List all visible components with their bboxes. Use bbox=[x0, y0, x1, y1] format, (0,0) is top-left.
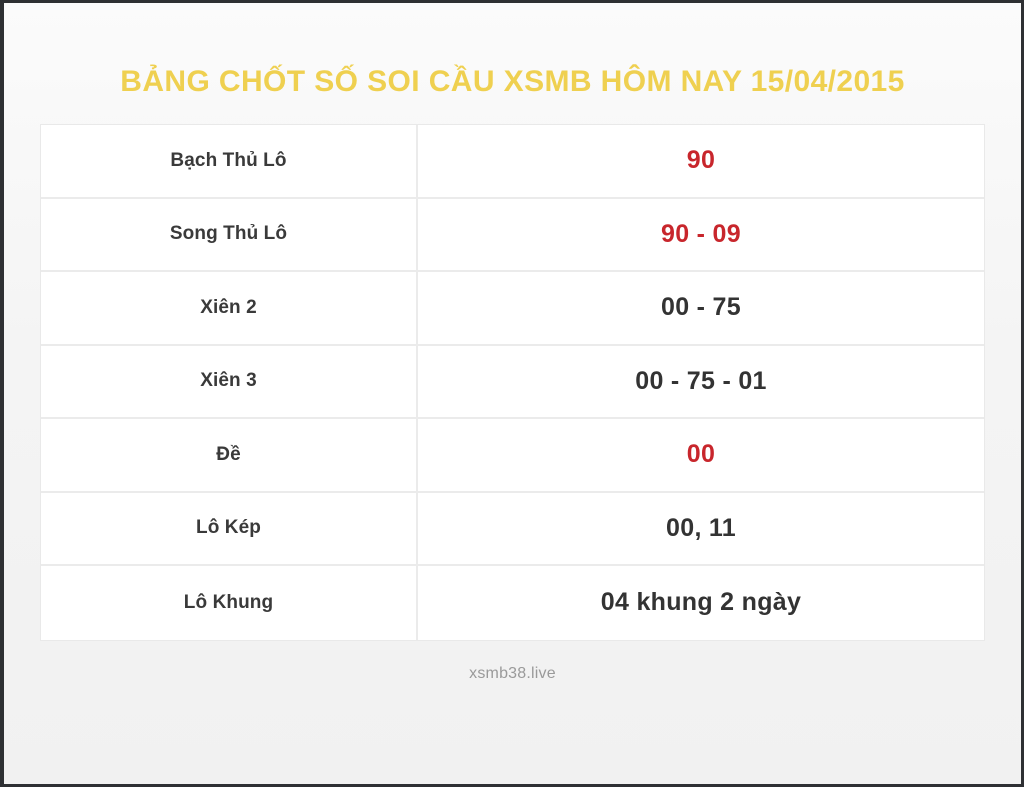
table-row: Lô Kép00, 11 bbox=[41, 493, 984, 567]
page-body: BẢNG CHỐT SỐ SOI CẦU XSMB HÔM NAY 15/04/… bbox=[4, 3, 1021, 784]
page-header: BẢNG CHỐT SỐ SOI CẦU XSMB HÔM NAY 15/04/… bbox=[4, 3, 1021, 99]
table-row: Xiên 300 - 75 - 01 bbox=[41, 346, 984, 420]
row-value: 00 bbox=[418, 419, 984, 491]
table-row: Song Thủ Lô90 - 09 bbox=[41, 199, 984, 273]
row-value: 00 - 75 - 01 bbox=[418, 346, 984, 418]
row-label: Song Thủ Lô bbox=[41, 199, 418, 271]
row-value: 90 bbox=[418, 125, 984, 197]
row-label: Xiên 3 bbox=[41, 346, 418, 418]
screenshot-frame: BẢNG CHỐT SỐ SOI CẦU XSMB HÔM NAY 15/04/… bbox=[0, 0, 1024, 787]
row-label: Xiên 2 bbox=[41, 272, 418, 344]
row-value: 90 - 09 bbox=[418, 199, 984, 271]
page-title: BẢNG CHỐT SỐ SOI CẦU XSMB HÔM NAY 15/04/… bbox=[4, 65, 1021, 99]
table-row: Lô Khung04 khung 2 ngày bbox=[41, 566, 984, 640]
prediction-table: Bạch Thủ Lô90Song Thủ Lô90 - 09Xiên 200 … bbox=[40, 124, 985, 641]
row-label: Đề bbox=[41, 419, 418, 491]
site-watermark: xsmb38.live bbox=[4, 665, 1021, 683]
row-label: Lô Kép bbox=[41, 493, 418, 565]
row-label: Lô Khung bbox=[41, 566, 418, 640]
row-value: 04 khung 2 ngày bbox=[418, 566, 984, 640]
table-row: Xiên 200 - 75 bbox=[41, 272, 984, 346]
row-value: 00, 11 bbox=[418, 493, 984, 565]
row-label: Bạch Thủ Lô bbox=[41, 125, 418, 197]
table-row: Bạch Thủ Lô90 bbox=[41, 125, 984, 199]
table-row: Đề00 bbox=[41, 419, 984, 493]
row-value: 00 - 75 bbox=[418, 272, 984, 344]
